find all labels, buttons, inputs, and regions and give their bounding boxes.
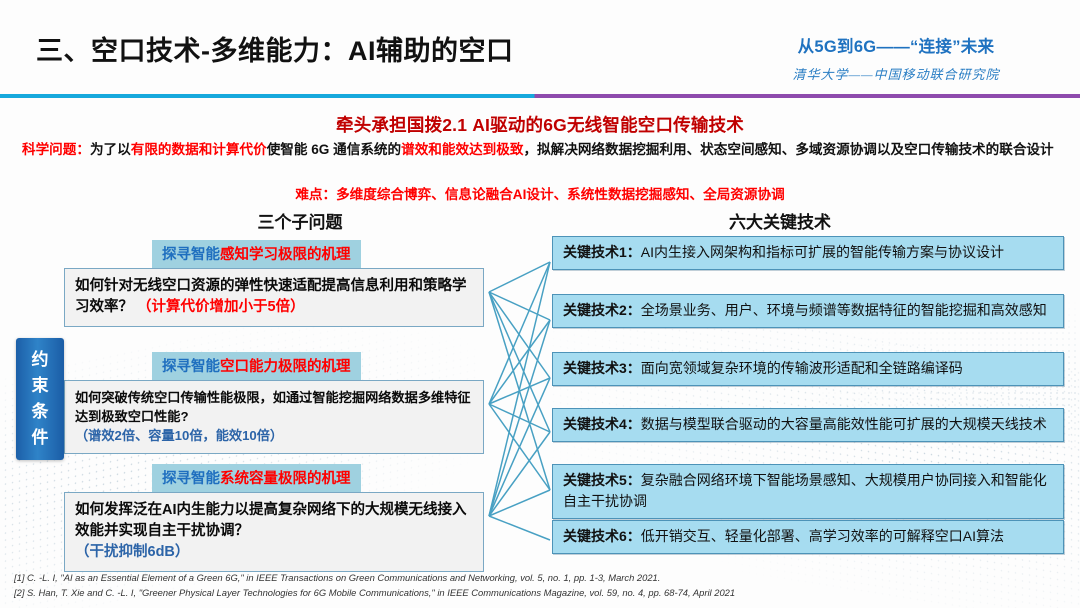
technology-2-label: 关键技术2： <box>563 302 641 318</box>
technology-box-5: 关键技术5：复杂融合网络环境下智能场景感知、大规模用户协同接入和智能化自主干扰协… <box>552 464 1064 519</box>
reference-1: [1] C. -L. I, "AI as an Essential Elemen… <box>14 570 1064 585</box>
technology-box-3: 关键技术3：面向宽领域复杂环境的传输波形适配和全链路编译码 <box>552 352 1064 386</box>
technology-5-label: 关键技术5： <box>563 472 641 488</box>
brand-institution: 清华大学——中国移动联合研究院 <box>746 64 1046 83</box>
header-divider-rule <box>0 94 1080 98</box>
slide-header: 三、空口技术-多维能力：AI辅助的空口 从5G到6G——“连接”未来 清华大学—… <box>0 0 1080 93</box>
subproblem-3-header-blue: 探寻智能 <box>162 471 220 487</box>
subproblem-2: 探寻智能空口能力极限的机理 如何突破传统空口传输性能极限，如通过智能挖掘网络数据… <box>64 352 484 454</box>
technology-6-text: 低开销交互、轻量化部署、高学习效率的可解释空口AI算法 <box>641 528 1004 544</box>
subproblem-2-text: 如何突破传统空口传输性能极限，如通过智能挖掘网络数据多维特征达到极致空口性能? <box>75 390 471 424</box>
technology-box-1: 关键技术1：AI内生接入网架构和指标可扩展的智能传输方案与协议设计 <box>552 236 1064 270</box>
science-question-seg1: 为了以 <box>90 142 131 157</box>
technology-2-text: 全场景业务、用户、环境与频谱等数据特征的智能挖掘和高效感知 <box>641 302 1047 318</box>
reference-2: [2] S. Han, T. Xie and C. -L. I, "Greene… <box>14 585 1064 600</box>
subproblem-1-body: 如何针对无线空口资源的弹性快速适配提高信息利用和策略学习效率？ （计算代价增加小… <box>64 268 484 327</box>
technology-4-text: 数据与模型联合驱动的大容量高能效性能可扩展的大规模天线技术 <box>641 416 1047 432</box>
science-question-seg3: ，拟解决网络数据挖掘利用、状态空间感知、多域资源协调以及空口传输技术的联合设计 <box>523 142 1053 157</box>
constraint-condition-tab: 约 束 条 件 <box>16 338 64 460</box>
slide-root: 三、空口技术-多维能力：AI辅助的空口 从5G到6G——“连接”未来 清华大学—… <box>0 0 1080 608</box>
science-question-paragraph: 科学问题：为了以有限的数据和计算代价使智能 6G 通信系统的谱效和能效达到极致，… <box>22 139 1064 161</box>
science-question-highlight2: 谱效和能效达到极致 <box>401 142 523 157</box>
constraint-char-3: 条 <box>32 399 49 425</box>
background-dot-texture-right <box>550 286 1080 608</box>
science-question-label: 科学问题： <box>22 142 90 157</box>
difficulty-line: 难点：多维度综合博弈、信息论融合AI设计、系统性数据挖掘感知、全局资源协调 <box>0 183 1080 203</box>
subproblem-3-body: 如何发挥泛在AI内生能力以提高复杂网络下的大规模无线接入效能并实现自主干扰协调？… <box>64 492 484 572</box>
subproblem-2-header: 探寻智能空口能力极限的机理 <box>152 352 361 380</box>
subproblem-3-header-red: 系统容量极限的机理 <box>220 471 351 487</box>
technology-box-4: 关键技术4：数据与模型联合驱动的大容量高能效性能可扩展的大规模天线技术 <box>552 408 1064 442</box>
subproblem-2-header-blue: 探寻智能 <box>162 359 220 375</box>
technology-3-label: 关键技术3： <box>563 360 641 376</box>
right-column-heading: 六大关键技术 <box>630 208 930 233</box>
technology-box-6: 关键技术6：低开销交互、轻量化部署、高学习效率的可解释空口AI算法 <box>552 520 1064 554</box>
subproblem-1-header-red: 感知学习极限的机理 <box>220 247 351 263</box>
brand-block: 从5G到6G——“连接”未来 清华大学——中国移动联合研究院 <box>746 33 1046 83</box>
technology-1-label: 关键技术1： <box>563 244 641 260</box>
science-question-seg2: 使智能 6G 通信系统的 <box>267 142 401 157</box>
subproblem-3-text: 如何发挥泛在AI内生能力以提高复杂网络下的大规模无线接入效能并实现自主干扰协调？ <box>75 502 467 539</box>
technology-1-text: AI内生接入网架构和指标可扩展的智能传输方案与协议设计 <box>641 244 1004 260</box>
technology-4-label: 关键技术4： <box>563 416 641 432</box>
technology-box-2: 关键技术2：全场景业务、用户、环境与频谱等数据特征的智能挖掘和高效感知 <box>552 294 1064 328</box>
project-title: 牵头承担国拨2.1 AI驱动的6G无线智能空口传输技术 <box>0 112 1080 137</box>
subproblem-2-body: 如何突破传统空口传输性能极限，如通过智能挖掘网络数据多维特征达到极致空口性能? … <box>64 380 484 454</box>
page-title: 三、空口技术-多维能力：AI辅助的空口 <box>36 29 514 68</box>
technology-6-label: 关键技术6： <box>563 528 641 544</box>
technology-3-text: 面向宽领域复杂环境的传输波形适配和全链路编译码 <box>641 360 963 376</box>
subproblem-1-note: （计算代价增加小于5倍） <box>137 299 305 315</box>
subproblem-3-note: （干扰抑制6dB） <box>75 542 473 563</box>
subproblem-3-header: 探寻智能系统容量极限的机理 <box>152 464 361 492</box>
left-column-heading: 三个子问题 <box>150 208 450 233</box>
subproblem-3: 探寻智能系统容量极限的机理 如何发挥泛在AI内生能力以提高复杂网络下的大规模无线… <box>64 464 484 572</box>
subproblem-2-note: （谱效2倍、容量10倍，能效10倍） <box>75 426 473 445</box>
subproblem-1-header-blue: 探寻智能 <box>162 247 220 263</box>
references-block: [1] C. -L. I, "AI as an Essential Elemen… <box>14 570 1064 600</box>
science-question-highlight1: 有限的数据和计算代价 <box>131 142 267 157</box>
subproblem-2-header-red: 空口能力极限的机理 <box>220 359 351 375</box>
constraint-char-4: 件 <box>32 425 49 451</box>
brand-slogan: 从5G到6G——“连接”未来 <box>746 33 1046 57</box>
subproblem-1: 探寻智能感知学习极限的机理 如何针对无线空口资源的弹性快速适配提高信息利用和策略… <box>64 240 484 327</box>
subproblem-1-header: 探寻智能感知学习极限的机理 <box>152 240 361 268</box>
constraint-char-1: 约 <box>32 347 49 373</box>
constraint-char-2: 束 <box>32 373 49 399</box>
